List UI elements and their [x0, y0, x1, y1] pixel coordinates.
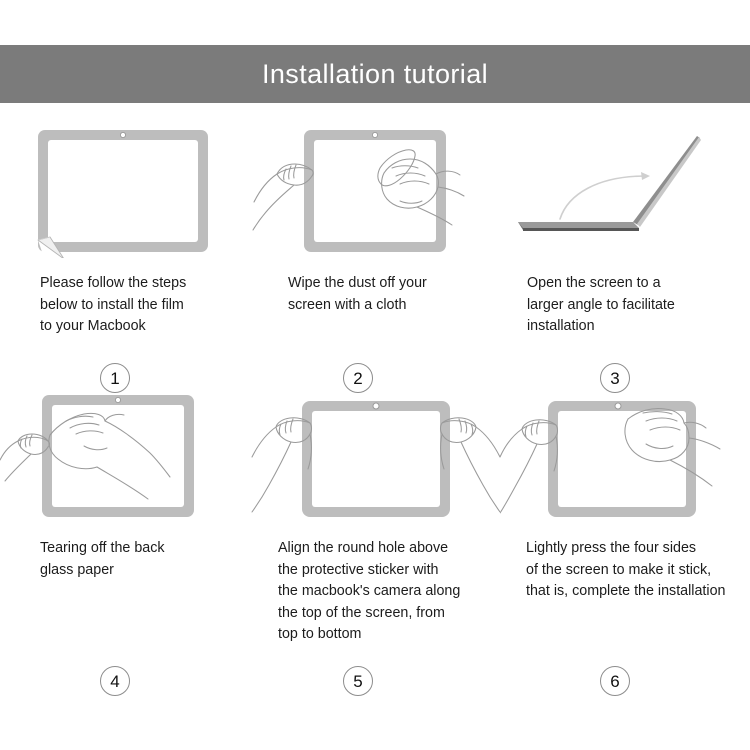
step-card-1: Please follow the steps below to install…	[0, 118, 250, 383]
step-caption-3: Open the screen to a larger angle to fac…	[527, 273, 750, 338]
step-caption-2: Wipe the dust off your screen with a clo…	[288, 273, 498, 316]
step-caption-5: Align the round hole above the protectiv…	[278, 538, 493, 646]
header-band: Installation tutorial	[0, 45, 750, 103]
step-badge-3: 3	[600, 363, 630, 393]
step-caption-1: Please follow the steps below to install…	[40, 273, 245, 338]
step-caption-6: Lightly press the four sides of the scre…	[526, 538, 750, 603]
step-badge-2: 2	[343, 363, 373, 393]
illustration-screen-peeling-corner	[0, 118, 250, 258]
step-card-4: Tearing off the back glass paper	[0, 383, 250, 650]
step-card-2: Wipe the dust off your screen with a clo…	[250, 118, 500, 383]
step-badge-6: 6	[600, 666, 630, 696]
tutorial-page: Installation tutorial Please follow the …	[0, 0, 750, 750]
step-badge-5: 5	[343, 666, 373, 696]
illustration-laptop-opening	[500, 118, 750, 258]
step-card-5: Align the round hole above the protectiv…	[250, 383, 500, 650]
illustration-wiping-screen	[250, 118, 500, 258]
illustration-tearing-backing	[0, 383, 250, 523]
step-badge-4: 4	[100, 666, 130, 696]
illustration-aligning-film	[250, 383, 500, 523]
step-caption-4: Tearing off the back glass paper	[40, 538, 245, 581]
page-title: Installation tutorial	[262, 61, 488, 88]
step-badge-1: 1	[100, 363, 130, 393]
illustration-pressing-screen	[500, 383, 750, 523]
step-card-3: Open the screen to a larger angle to fac…	[500, 118, 750, 383]
step-card-6: Lightly press the four sides of the scre…	[500, 383, 750, 650]
